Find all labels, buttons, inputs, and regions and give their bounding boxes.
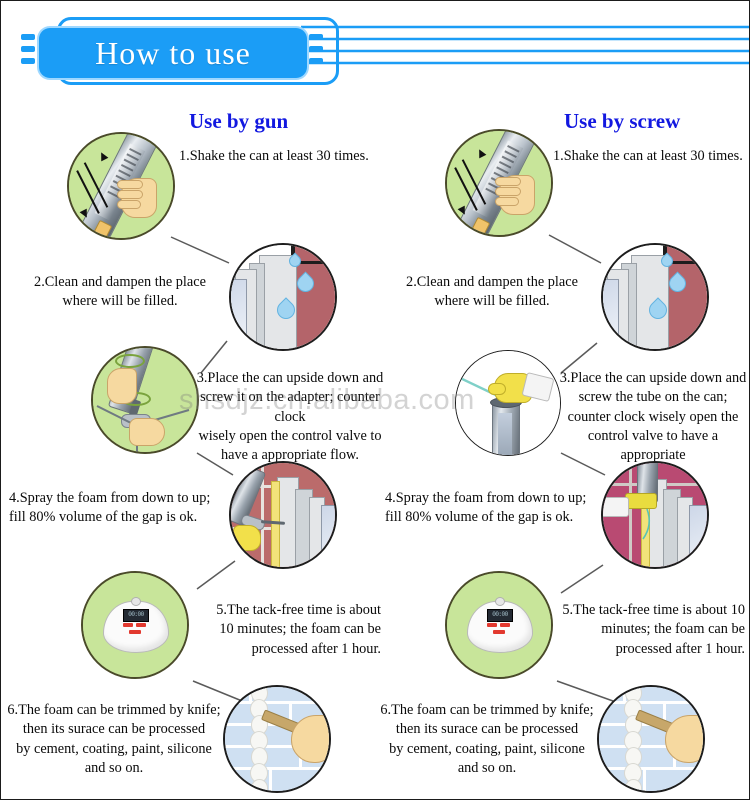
- step-text-gun-3: 3.Place the can upside down andscrew it …: [187, 369, 393, 465]
- timer-display-right: 00:00: [488, 610, 512, 619]
- timer-display: 00:00: [124, 610, 148, 619]
- step-image-gun-adapter-left: [91, 346, 199, 454]
- step-text-gun-1: 1.Shake the can at least 30 times.: [179, 147, 389, 166]
- step-text-gun-5: 5.The tack-free time is about10 minutes;…: [189, 601, 381, 659]
- step-text-screw-2: 2.Clean and dampen the placewhere will b…: [393, 273, 591, 312]
- step-image-trim-knife-right: [597, 685, 705, 793]
- step-text-gun-2: 2.Clean and dampen the placewhere will b…: [21, 273, 219, 312]
- step-image-shake-can-left: [67, 132, 175, 240]
- step-text-screw-5: 5.The tack-free time is about 10minutes;…: [557, 601, 745, 659]
- step-text-gun-6: 6.The foam can be trimmed by knife;then …: [7, 701, 221, 778]
- step-image-timer-left: 00:00: [81, 571, 189, 679]
- step-image-screw-tube-right: [455, 350, 561, 456]
- step-image-clean-dampen-right: [601, 243, 709, 351]
- step-image-clean-dampen-left: [229, 243, 337, 351]
- step-image-spray-gun-left: [229, 461, 337, 569]
- step-image-timer-right: 00:00: [445, 571, 553, 679]
- step-text-screw-6: 6.The foam can be trimmed by knife;then …: [379, 701, 595, 778]
- step-image-spray-straw-right: [601, 461, 709, 569]
- step-image-shake-can-right: [445, 129, 553, 237]
- step-text-gun-4: 4.Spray the foam from down to up;fill 80…: [9, 489, 227, 528]
- step-text-screw-1: 1.Shake the can at least 30 times.: [553, 147, 750, 166]
- step-image-trim-knife-left: [223, 685, 331, 793]
- how-to-use-infographic: How to use Use by gun Use by screw: [0, 0, 750, 800]
- step-text-screw-4: 4.Spray the foam from down to up;fill 80…: [385, 489, 599, 528]
